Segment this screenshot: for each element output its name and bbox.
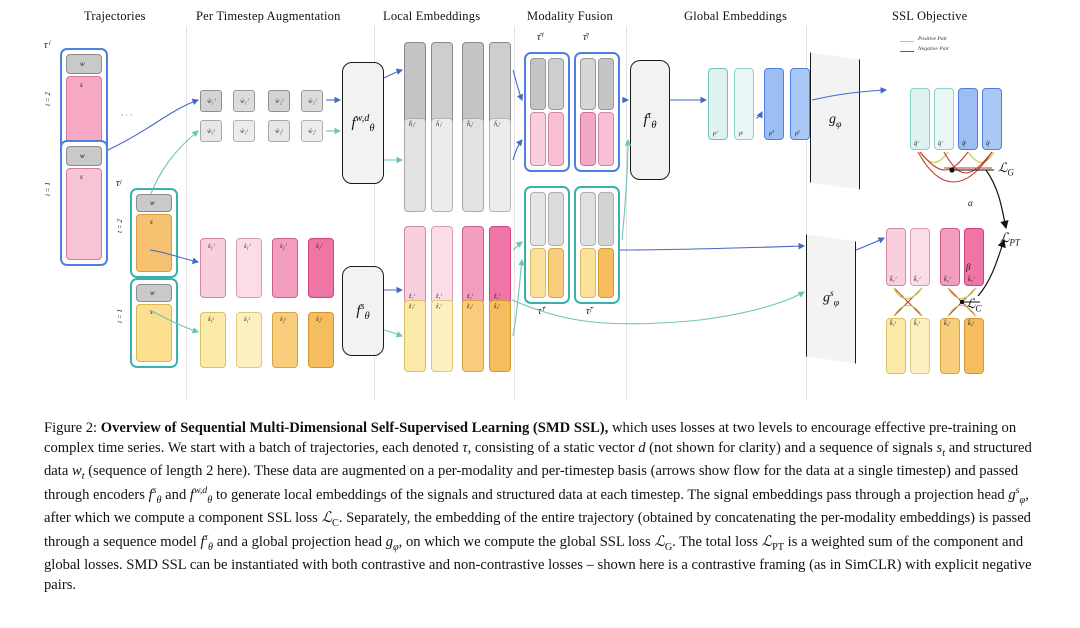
global-embedding-teal: ρʲ [734, 68, 754, 140]
column-header-global-embeddings: Global Embeddings [684, 9, 787, 24]
aug-s-token: s̃₁ʲ [200, 312, 226, 368]
column-divider [514, 26, 515, 400]
trajectory-w-block: w [66, 54, 102, 74]
sequence-model-f-tau: fτθ [630, 60, 670, 180]
fusion-s-segment [548, 112, 564, 166]
fusion-s-segment [598, 248, 614, 298]
figure-caption: Figure 2: Overview of Sequential Multi-D… [44, 418, 1040, 595]
ssl-component-yellow: k̂₁ʲ [910, 318, 930, 374]
ssl-component-yellow: k̂₂ʲ [964, 318, 984, 374]
ssl-component-yellow: k̃₂ʲ [940, 318, 960, 374]
fusion-label-tau-tilde-j: τ̃ʲ [586, 306, 591, 317]
local-embedding-w: ĥ₂ʲ [489, 118, 511, 212]
local-embedding-s: z̃₁ⁱ [404, 226, 426, 304]
local-embedding-s: ẑ₂ʲ [489, 300, 511, 372]
fusion-w-segment [598, 192, 614, 246]
column-header-ssl-objective: SSL Objective [892, 9, 967, 24]
trajectory-ellipsis: · · · [121, 110, 132, 120]
fusion-w-segment [530, 58, 546, 110]
fusion-w-segment [530, 192, 546, 246]
aug-s-token: ŝ₂ʲ [308, 312, 334, 368]
fusion-w-segment [580, 58, 596, 110]
ssl-global-token: q̃ʲ [958, 88, 978, 150]
global-embedding-blue: ρ̃ⁱ [764, 68, 784, 140]
legend-negative-label: Negative Pair [918, 46, 949, 52]
local-embedding-w: h̃₁ʲ [404, 118, 426, 212]
ssl-component-yellow: k̃₁ʲ [886, 318, 906, 374]
trajectory-w-block: w [136, 194, 172, 212]
fusion-label-tau-tilde-i: τ̃ⁱ [538, 306, 543, 317]
aug-w-token: w̃₁ʲ [200, 120, 222, 142]
trajectory-w-block: w [66, 146, 102, 166]
legend-negative-line [900, 51, 914, 52]
projection-head-g-phi-s: gsφ [806, 234, 856, 363]
trajectory-w-block: w [136, 284, 172, 302]
fusion-s-segment [598, 112, 614, 166]
caption-figure-number: Figure 2: [44, 420, 97, 436]
aug-w-token: w̃₁ⁱ [200, 90, 222, 112]
trajectory-s-block: s [136, 214, 172, 272]
fusion-s-segment [548, 248, 564, 298]
encoder-f-s: fsθ [342, 266, 384, 356]
fusion-label-tau-bar-j: τ̄ʲ [583, 32, 588, 43]
fusion-s-segment [530, 248, 546, 298]
aug-s-token: ŝ₁ʲ [236, 312, 262, 368]
fusion-s-segment [530, 112, 546, 166]
ssl-global-token: q̂ʲ [982, 88, 1002, 150]
trajectory-s-block: s [136, 304, 172, 362]
ssl-component-pink: k̂₂ⁱ [964, 228, 984, 286]
aug-w-token: ŵ₂ⁱ [301, 90, 323, 112]
beta-label: β [966, 262, 970, 272]
trajectory-t1-label: t = 1 [116, 309, 124, 323]
loss-total-label: ℒPT [1000, 230, 1020, 248]
fusion-w-segment [580, 192, 596, 246]
legend-positive-line [900, 41, 914, 42]
fusion-w-segment [548, 58, 564, 110]
trajectory-tau-j-label: τʲ [116, 178, 121, 189]
column-divider [186, 26, 187, 400]
aug-s-token: ŝ₂ⁱ [308, 238, 334, 298]
trajectory-s-block: s [66, 168, 102, 260]
aug-w-token: ŵ₁ʲ [233, 120, 255, 142]
aug-w-token: w̃₂ⁱ [268, 90, 290, 112]
local-embedding-w: h̃₂ʲ [462, 118, 484, 212]
ssl-global-token: q̂ⁱ [934, 88, 954, 150]
trajectory-t2-label: t = 2 [116, 219, 124, 233]
local-embedding-s: ẑ₁ʲ [431, 300, 453, 372]
column-divider [626, 26, 627, 400]
local-embedding-w: ĥ₁ʲ [431, 118, 453, 212]
fusion-w-segment [598, 58, 614, 110]
ssl-component-pink: k̃₂ⁱ [940, 228, 960, 286]
global-embedding-teal: ρⁱ [708, 68, 728, 140]
loss-global-label: ℒG [998, 160, 1014, 178]
figure-panel: Trajectories Per Timestep Augmentation L… [0, 0, 1080, 628]
ssl-component-pink: k̂₁ⁱ [910, 228, 930, 286]
trajectory-t2-label: t = 2 [44, 92, 52, 106]
alpha-label: α [968, 198, 973, 208]
fusion-s-segment [580, 112, 596, 166]
local-embedding-s: z̃₁ʲ [404, 300, 426, 372]
legend-positive-label: Positive Pair [918, 36, 947, 42]
local-embedding-s: z̃₂ⁱ [462, 226, 484, 304]
fusion-container-i [524, 52, 570, 172]
fusion-label-tau-bar-i: τ̄ⁱ [537, 32, 542, 43]
fusion-container-tilde-i [524, 186, 570, 304]
fusion-container-j [574, 52, 620, 172]
local-embedding-s: ẑ₂ⁱ [489, 226, 511, 304]
local-embedding-s: ẑ₁ⁱ [431, 226, 453, 304]
trajectory-tau-i-label: τⁱ [44, 40, 49, 51]
aug-w-token: ŵ₂ʲ [301, 120, 323, 142]
ssl-global-token: q̃ⁱ [910, 88, 930, 150]
aug-s-token: s̃₁ⁱ [200, 238, 226, 298]
column-header-modality-fusion: Modality Fusion [527, 9, 613, 24]
global-embedding-blue: ρ̃ʲ [790, 68, 810, 140]
aug-w-token: w̃₂ʲ [268, 120, 290, 142]
column-header-trajectories: Trajectories [84, 9, 146, 24]
aug-s-token: s̃₂ʲ [272, 312, 298, 368]
loss-component-label: ℒC [966, 296, 981, 314]
local-embedding-s: z̃₂ʲ [462, 300, 484, 372]
caption-bold-title: Overview of Sequential Multi-Dimensional… [101, 420, 609, 436]
column-header-local-embeddings: Local Embeddings [383, 9, 480, 24]
fusion-s-segment [580, 248, 596, 298]
aug-s-token: s̃₂ⁱ [272, 238, 298, 298]
trajectory-t1-label: t = 1 [44, 182, 52, 196]
fusion-container-tilde-j [574, 186, 620, 304]
fusion-w-segment [548, 192, 564, 246]
column-header-augmentation: Per Timestep Augmentation [196, 9, 341, 24]
projection-head-g-phi: gφ [810, 52, 860, 189]
encoder-f-wd: fw,dθ [342, 62, 384, 184]
ssl-component-pink: k̃₁ⁱ [886, 228, 906, 286]
aug-s-token: ŝ₁ⁱ [236, 238, 262, 298]
aug-w-token: ŵ₁ⁱ [233, 90, 255, 112]
